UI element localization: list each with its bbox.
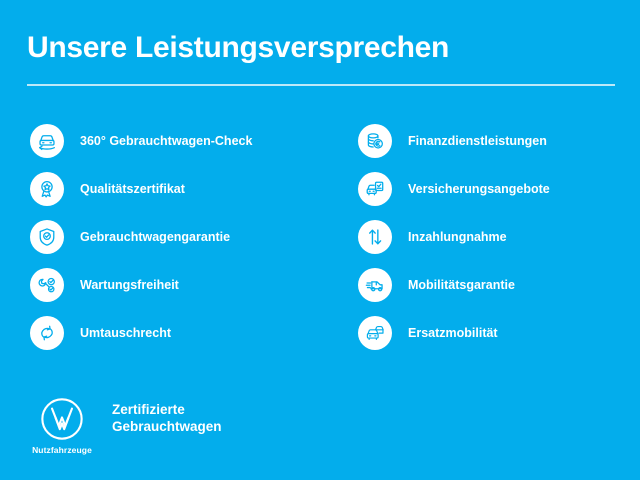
shield-check-icon bbox=[30, 220, 64, 254]
two-cars-icon bbox=[358, 316, 392, 350]
benefit-label: Qualitätszertifikat bbox=[80, 181, 185, 197]
car-document-icon bbox=[358, 172, 392, 206]
exchange-arrows-icon bbox=[30, 316, 64, 350]
page-title: Unsere Leistungsversprechen bbox=[27, 30, 449, 66]
arrows-up-down-icon bbox=[358, 220, 392, 254]
benefit-label: Versicherungsangebote bbox=[408, 181, 550, 197]
tow-van-icon bbox=[358, 268, 392, 302]
benefit-label: Umtauschrecht bbox=[80, 325, 171, 341]
volkswagen-logo-icon bbox=[39, 396, 85, 442]
benefit-item-gebrauchtwagengarantie[interactable]: Gebrauchtwagengarantie bbox=[30, 220, 320, 254]
benefit-label: Finanzdienstleistungen bbox=[408, 133, 547, 149]
benefit-item-wartungsfreiheit[interactable]: Wartungsfreiheit bbox=[30, 268, 320, 302]
award-rosette-icon bbox=[30, 172, 64, 206]
wrench-check-icon bbox=[30, 268, 64, 302]
vw-logo-block: Nutzfahrzeuge bbox=[30, 396, 94, 455]
benefit-item-versicherungsangebote[interactable]: Versicherungsangebote bbox=[358, 172, 640, 206]
benefit-item-qualitaetszertifikat[interactable]: Qualitätszertifikat bbox=[30, 172, 320, 206]
title-divider bbox=[27, 84, 615, 86]
benefit-label: Mobilitätsgarantie bbox=[408, 277, 515, 293]
benefit-item-finanzdienstleistungen[interactable]: Finanzdienstleistungen bbox=[358, 124, 640, 158]
footer-text-line2: Gebrauchtwagen bbox=[112, 418, 222, 435]
benefit-item-gebrauchtwagen-check[interactable]: 360° Gebrauchtwagen-Check bbox=[30, 124, 320, 158]
benefit-label: Inzahlungnahme bbox=[408, 229, 507, 245]
coins-euro-icon bbox=[358, 124, 392, 158]
benefit-column-right: Finanzdienstleistungen Versicherungsange… bbox=[358, 124, 640, 364]
slide-canvas: Unsere Leistungsversprechen 360° Gebrauc… bbox=[0, 0, 640, 480]
benefit-item-inzahlungnahme[interactable]: Inzahlungnahme bbox=[358, 220, 640, 254]
footer-text-line1: Zertifizierte bbox=[112, 401, 222, 418]
footer-brand-lockup: Nutzfahrzeuge Zertifizierte Gebrauchtwag… bbox=[30, 396, 222, 455]
benefit-label: 360° Gebrauchtwagen-Check bbox=[80, 133, 252, 149]
benefit-label: Wartungsfreiheit bbox=[80, 277, 179, 293]
footer-text: Zertifizierte Gebrauchtwagen bbox=[112, 401, 222, 435]
benefit-label: Gebrauchtwagengarantie bbox=[80, 229, 230, 245]
benefit-column-left: 360° Gebrauchtwagen-Check Qualitätszerti… bbox=[30, 124, 320, 364]
car-360-check-icon bbox=[30, 124, 64, 158]
vw-wordmark: Nutzfahrzeuge bbox=[32, 445, 92, 455]
benefit-item-mobilitaetsgarantie[interactable]: Mobilitätsgarantie bbox=[358, 268, 640, 302]
benefit-item-ersatzmobilitaet[interactable]: Ersatzmobilität bbox=[358, 316, 640, 350]
benefit-label: Ersatzmobilität bbox=[408, 325, 498, 341]
benefit-item-umtauschrecht[interactable]: Umtauschrecht bbox=[30, 316, 320, 350]
